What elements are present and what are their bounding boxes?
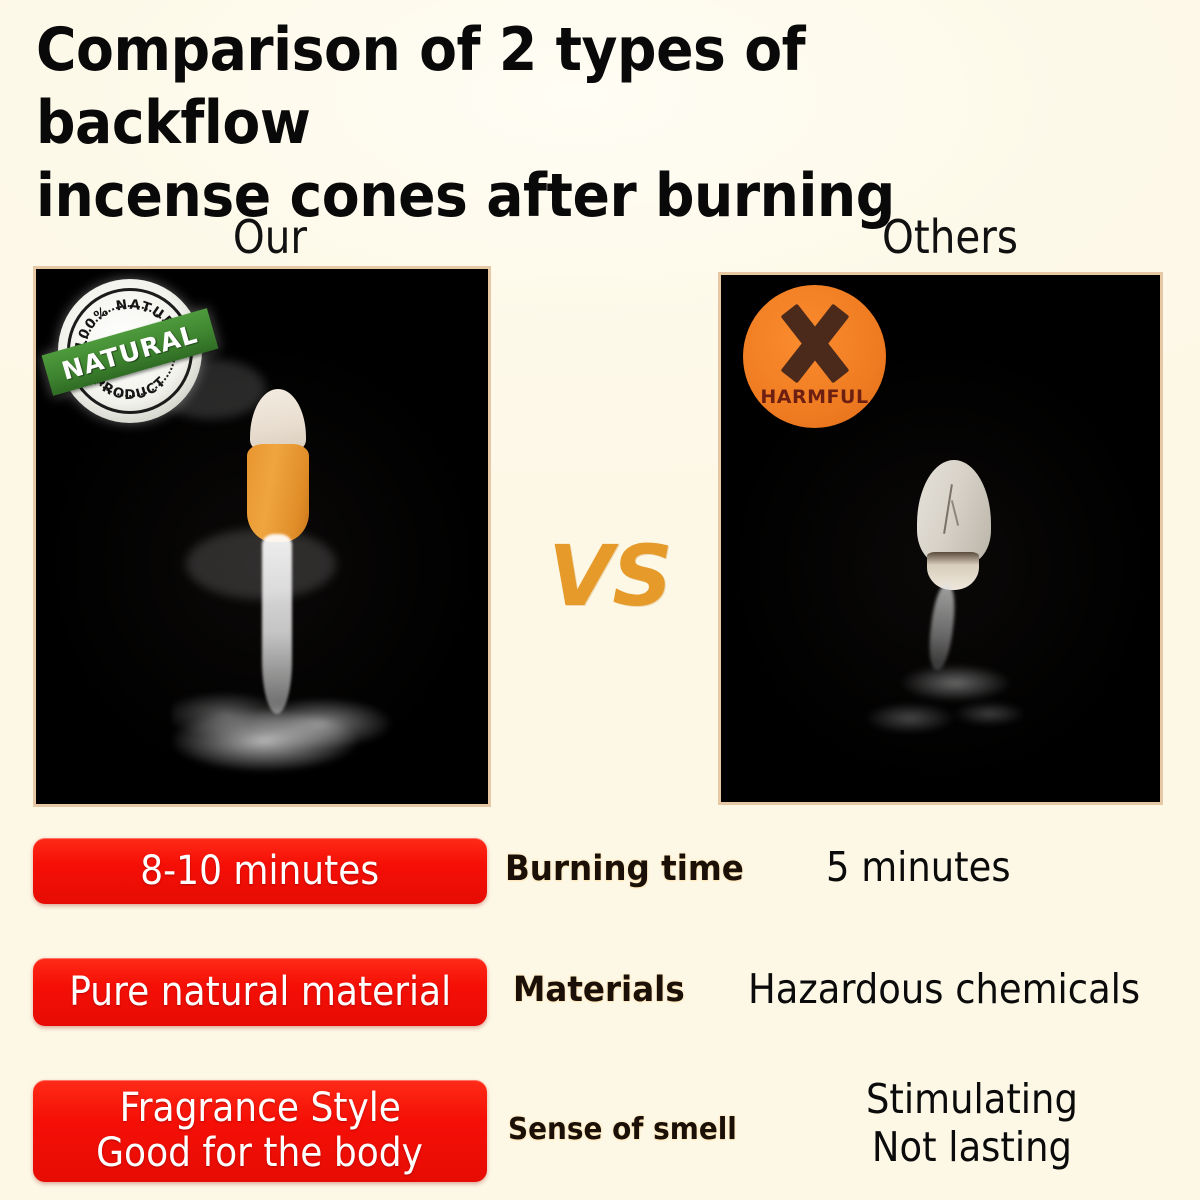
column-header-ours: Our: [138, 210, 402, 264]
comparison-infographic: Comparison of 2 types of backflow incens…: [0, 0, 1200, 1200]
ours-value-pill: 8-10 minutes: [33, 838, 487, 904]
product-photo-ours: 100% NATURAL PRODUCT NATURAL: [33, 266, 491, 807]
ours-value-text-line1: Fragrance Style: [119, 1086, 400, 1131]
others-value-text: 5 minutes: [826, 844, 1011, 892]
product-photo-others: HARMFUL: [718, 272, 1163, 805]
column-header-others: Others: [818, 210, 1082, 264]
attribute-label: Materials: [513, 970, 685, 1010]
natural-product-badge: 100% NATURAL PRODUCT NATURAL: [58, 279, 202, 423]
attribute-label: Sense of smell: [508, 1112, 737, 1147]
others-value-text: Hazardous chemicals: [748, 966, 1140, 1014]
ours-value-text-line2: Good for the body: [97, 1131, 424, 1176]
harmful-badge: HARMFUL: [743, 285, 886, 428]
attribute-label: Burning time: [505, 849, 744, 889]
ours-value-pill: Fragrance Style Good for the body: [33, 1080, 487, 1182]
others-value-text: Stimulating Not lasting: [866, 1076, 1078, 1171]
incense-cone-others: [909, 460, 1019, 790]
cone-body: [247, 444, 309, 542]
page-title: Comparison of 2 types of backflow incens…: [36, 14, 1094, 234]
comparison-row: Pure natural material Materials Hazardou…: [0, 954, 1200, 1030]
smoke-pool: [172, 679, 392, 789]
incense-cone-ours: [222, 389, 342, 789]
comparison-row: Fragrance Style Good for the body Sense …: [0, 1076, 1200, 1186]
ours-value-pill: Pure natural material: [33, 958, 487, 1026]
vs-label: VS: [520, 527, 700, 625]
cone-tip: [250, 389, 306, 451]
comparison-row: 8-10 minutes Burning time 5 minutes: [0, 832, 1200, 908]
cone-base: [927, 552, 979, 590]
smoke-curl: [849, 650, 1039, 760]
harmful-badge-label: HARMFUL: [743, 386, 886, 408]
ours-value-text: 8-10 minutes: [141, 849, 380, 894]
ours-value-text: Pure natural material: [69, 970, 451, 1015]
